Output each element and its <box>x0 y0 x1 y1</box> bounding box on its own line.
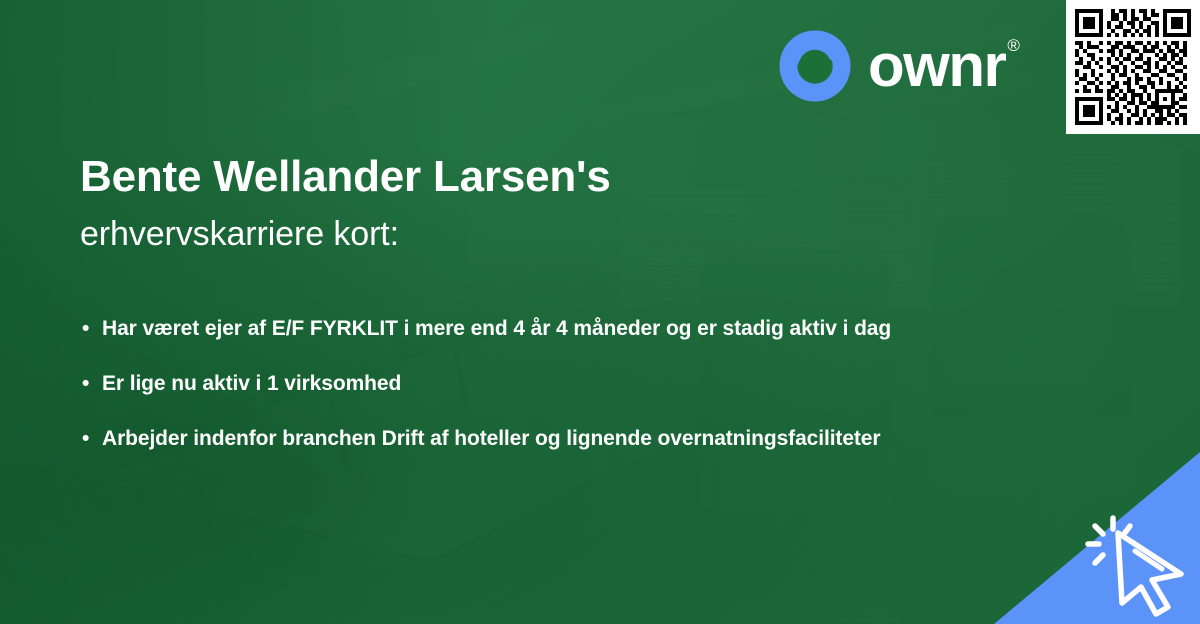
list-item: Arbejder indenfor branchen Drift af hote… <box>80 422 940 456</box>
ownr-wordmark: ownr® <box>868 36 1018 96</box>
registered-mark: ® <box>1007 36 1020 55</box>
click-cursor-icon <box>1080 506 1192 618</box>
ownr-logo[interactable]: ownr® <box>778 29 1018 103</box>
business-card: ownr® Bente Wellander Larsen's erhvervsk… <box>0 0 1200 624</box>
page-subtitle: erhvervskarriere kort: <box>80 214 980 255</box>
career-facts-list: Har været ejer af E/F FYRKLIT i mere end… <box>80 312 940 456</box>
qr-code[interactable] <box>1066 0 1200 134</box>
list-item: Er lige nu aktiv i 1 virksomhed <box>80 367 940 401</box>
wordmark-text: ownr <box>868 32 1005 99</box>
heading-block: Bente Wellander Larsen's erhvervskarrier… <box>80 152 980 255</box>
list-item: Har været ejer af E/F FYRKLIT i mere end… <box>80 312 940 346</box>
ownr-circle-logo-icon <box>778 29 852 103</box>
page-title: Bente Wellander Larsen's <box>80 152 980 202</box>
